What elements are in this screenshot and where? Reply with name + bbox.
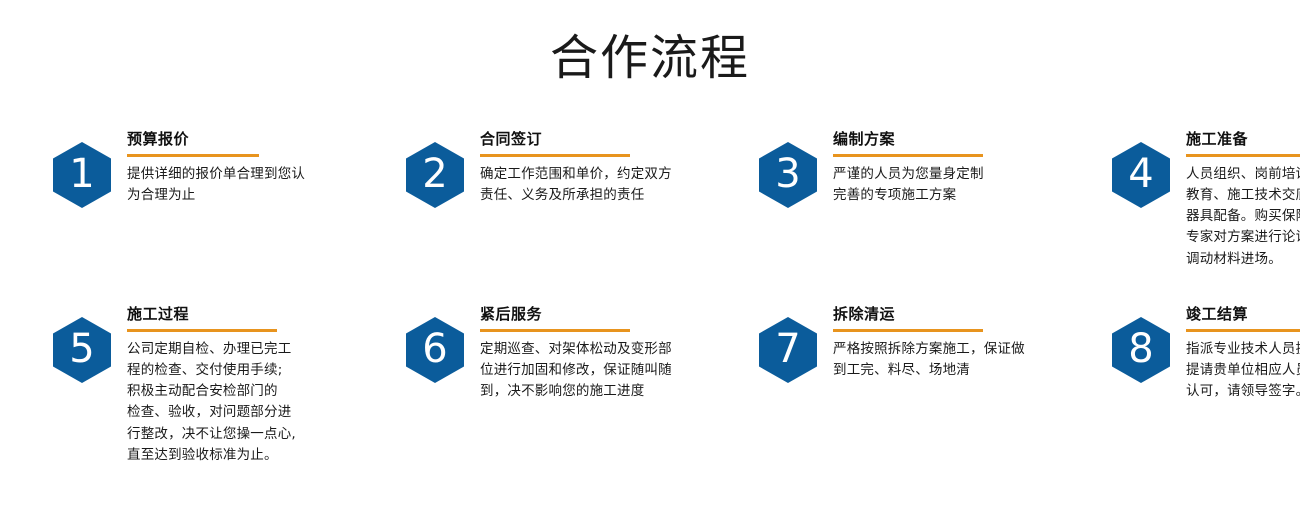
desc-line: 行整改，决不让您操一点心, — [127, 424, 353, 445]
step-number: 5 — [69, 329, 94, 369]
title-underline-rule — [480, 329, 630, 332]
hexagon-badge-4: 4 — [1112, 142, 1170, 208]
step-description: 提供详细的报价单合理到您认 为合理为止 — [127, 164, 353, 207]
desc-line: 调动材料进场。 — [1186, 249, 1300, 270]
hexagon-icon: 4 — [1112, 142, 1170, 208]
hexagon-badge-7: 7 — [759, 317, 817, 383]
step-body-6: 紧后服务 定期巡查、对架体松动及变形部 位进行加固和修改，保证随叫随 到，决不影… — [480, 303, 706, 402]
desc-line: 专家对方案进行论证、预备 — [1186, 227, 1300, 248]
step-card-3[interactable]: 3 编制方案 严谨的人员为您量身定制 完善的专项施工方案 — [706, 128, 1059, 208]
step-description: 公司定期自检、办理已完工 程的检查、交付使用手续; 积极主动配合安检部门的 检查… — [127, 339, 353, 467]
desc-line: 严谨的人员为您量身定制 — [833, 164, 1059, 185]
page-title: 合作流程 — [0, 0, 1300, 82]
step-card-4[interactable]: 4 施工准备 人员组织、岗前培训、三级 教育、施工技术交底、安全 器具配备。购买… — [1059, 128, 1300, 270]
step-number: 7 — [775, 329, 800, 369]
hexagon-badge-1: 1 — [53, 142, 111, 208]
desc-line: 认可，请领导签字。 — [1186, 381, 1300, 402]
desc-line: 提供详细的报价单合理到您认 — [127, 164, 353, 185]
step-title: 施工过程 — [127, 305, 353, 325]
step-body-8: 竣工结算 指派专业技术人员提供决断依据。 提请贵单位相应人员进行核对、 认可，请… — [1186, 303, 1300, 402]
title-underline-rule — [127, 154, 259, 157]
desc-line: 提请贵单位相应人员进行核对、 — [1186, 360, 1300, 381]
step-number: 1 — [69, 154, 94, 194]
title-underline-rule — [833, 329, 983, 332]
title-underline-rule — [833, 154, 983, 157]
desc-line: 完善的专项施工方案 — [833, 185, 1059, 206]
desc-line: 确定工作范围和单价，约定双方 — [480, 164, 706, 185]
step-card-2[interactable]: 2 合同签订 确定工作范围和单价，约定双方 责任、义务及所承担的责任 — [353, 128, 706, 208]
step-body-2: 合同签订 确定工作范围和单价，约定双方 责任、义务及所承担的责任 — [480, 128, 706, 206]
title-underline-rule — [1186, 154, 1300, 157]
step-body-1: 预算报价 提供详细的报价单合理到您认 为合理为止 — [127, 128, 353, 206]
hexagon-badge-3: 3 — [759, 142, 817, 208]
step-number: 3 — [775, 154, 800, 194]
step-body-3: 编制方案 严谨的人员为您量身定制 完善的专项施工方案 — [833, 128, 1059, 206]
hexagon-badge-8: 8 — [1112, 317, 1170, 383]
hexagon-badge-2: 2 — [406, 142, 464, 208]
hexagon-icon: 2 — [406, 142, 464, 208]
desc-line: 严格按照拆除方案施工，保证做 — [833, 339, 1059, 360]
desc-line: 检查、验收，对问题部分进 — [127, 402, 353, 423]
title-underline-rule — [127, 329, 277, 332]
step-number: 2 — [422, 154, 447, 194]
hexagon-icon: 8 — [1112, 317, 1170, 383]
desc-line: 责任、义务及所承担的责任 — [480, 185, 706, 206]
step-card-1[interactable]: 1 预算报价 提供详细的报价单合理到您认 为合理为止 — [0, 128, 353, 208]
process-row-bottom: 5 施工过程 公司定期自检、办理已完工 程的检查、交付使用手续; 积极主动配合安… — [0, 303, 1300, 466]
step-title: 编制方案 — [833, 130, 1059, 150]
desc-line: 积极主动配合安检部门的 — [127, 381, 353, 402]
hexagon-icon: 5 — [53, 317, 111, 383]
step-description: 确定工作范围和单价，约定双方 责任、义务及所承担的责任 — [480, 164, 706, 207]
step-title: 预算报价 — [127, 130, 353, 150]
desc-line: 器具配备。购买保险‘组织 — [1186, 206, 1300, 227]
step-title: 合同签订 — [480, 130, 706, 150]
step-description: 人员组织、岗前培训、三级 教育、施工技术交底、安全 器具配备。购买保险‘组织 专… — [1186, 164, 1300, 271]
step-card-6[interactable]: 6 紧后服务 定期巡查、对架体松动及变形部 位进行加固和修改，保证随叫随 到，决… — [353, 303, 706, 402]
desc-line: 位进行加固和修改，保证随叫随 — [480, 360, 706, 381]
hexagon-icon: 3 — [759, 142, 817, 208]
hexagon-icon: 6 — [406, 317, 464, 383]
process-row-top: 1 预算报价 提供详细的报价单合理到您认 为合理为止 2 合同签订 — [0, 128, 1300, 303]
hexagon-icon: 7 — [759, 317, 817, 383]
step-title: 拆除清运 — [833, 305, 1059, 325]
title-underline-rule — [1186, 329, 1300, 332]
process-flow-grid: 1 预算报价 提供详细的报价单合理到您认 为合理为止 2 合同签订 — [0, 128, 1300, 466]
desc-line: 人员组织、岗前培训、三级 — [1186, 164, 1300, 185]
hexagon-icon: 1 — [53, 142, 111, 208]
step-title: 竣工结算 — [1186, 305, 1300, 325]
step-title: 紧后服务 — [480, 305, 706, 325]
desc-line: 直至达到验收标准为止。 — [127, 445, 353, 466]
hexagon-badge-5: 5 — [53, 317, 111, 383]
desc-line: 教育、施工技术交底、安全 — [1186, 185, 1300, 206]
step-body-7: 拆除清运 严格按照拆除方案施工，保证做 到工完、料尽、场地清 — [833, 303, 1059, 381]
desc-line: 到工完、料尽、场地清 — [833, 360, 1059, 381]
desc-line: 公司定期自检、办理已完工 — [127, 339, 353, 360]
desc-line: 指派专业技术人员提供决断依据。 — [1186, 339, 1300, 360]
step-body-5: 施工过程 公司定期自检、办理已完工 程的检查、交付使用手续; 积极主动配合安检部… — [127, 303, 353, 466]
step-number: 6 — [422, 329, 447, 369]
desc-line: 到，决不影响您的施工进度 — [480, 381, 706, 402]
step-description: 定期巡查、对架体松动及变形部 位进行加固和修改，保证随叫随 到，决不影响您的施工… — [480, 339, 706, 403]
desc-line: 定期巡查、对架体松动及变形部 — [480, 339, 706, 360]
step-description: 指派专业技术人员提供决断依据。 提请贵单位相应人员进行核对、 认可，请领导签字。 — [1186, 339, 1300, 403]
desc-line: 程的检查、交付使用手续; — [127, 360, 353, 381]
step-description: 严格按照拆除方案施工，保证做 到工完、料尽、场地清 — [833, 339, 1059, 382]
step-body-4: 施工准备 人员组织、岗前培训、三级 教育、施工技术交底、安全 器具配备。购买保险… — [1186, 128, 1300, 270]
step-card-5[interactable]: 5 施工过程 公司定期自检、办理已完工 程的检查、交付使用手续; 积极主动配合安… — [0, 303, 353, 466]
step-number: 8 — [1128, 329, 1153, 369]
step-card-7[interactable]: 7 拆除清运 严格按照拆除方案施工，保证做 到工完、料尽、场地清 — [706, 303, 1059, 383]
hexagon-badge-6: 6 — [406, 317, 464, 383]
step-description: 严谨的人员为您量身定制 完善的专项施工方案 — [833, 164, 1059, 207]
step-card-8[interactable]: 8 竣工结算 指派专业技术人员提供决断依据。 提请贵单位相应人员进行核对、 认可… — [1059, 303, 1300, 402]
desc-line: 为合理为止 — [127, 185, 353, 206]
step-title: 施工准备 — [1186, 130, 1300, 150]
title-underline-rule — [480, 154, 630, 157]
step-number: 4 — [1128, 154, 1153, 194]
